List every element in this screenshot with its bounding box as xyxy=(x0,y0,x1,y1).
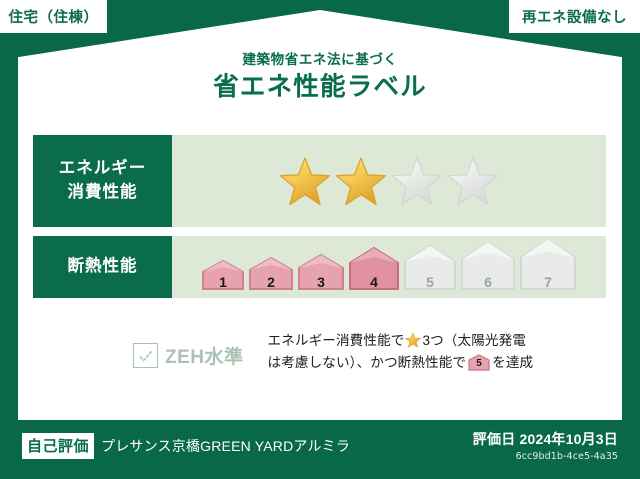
zeh-check-icon xyxy=(138,348,154,364)
self-evaluation-tag: 自己評価 xyxy=(22,433,94,459)
house-filled-icon xyxy=(201,260,245,290)
footer-right-group: 評価日 2024年10月3日 6cc9bd1b-4ce5-4a35 xyxy=(473,429,618,462)
page-title: 省エネ性能ラベル xyxy=(0,72,640,104)
insulation-performance-label-line1: 断熱性能 xyxy=(68,255,138,279)
insulation-grade-house: 6 xyxy=(460,241,516,295)
zeh-description: エネルギー消費性能で3つ（太陽光発電 は考慮しない）、かつ断熱性能で5を達成 xyxy=(268,330,534,374)
label-footer: 自己評価 プレサンス京橋GREEN YARDアルミラ 評価日 2024年10月3… xyxy=(0,420,640,479)
evaluation-id: 6cc9bd1b-4ce5-4a35 xyxy=(473,451,618,462)
label-heading: 建築物省エネ法に基づく 省エネ性能ラベル xyxy=(0,52,640,104)
house-achieved-icon xyxy=(348,247,400,290)
energy-performance-label-line1: エネルギー xyxy=(59,157,147,181)
insulation-grade-house-achieved: 4 xyxy=(348,247,400,295)
inline-star-icon xyxy=(405,332,421,348)
zeh-desc-part2: は考慮しない）、かつ断熱性能で xyxy=(268,355,467,370)
zeh-desc-star-count: 3つ（太陽光発電 xyxy=(422,333,526,348)
zeh-desc-part3: を達成 xyxy=(492,355,533,370)
energy-performance-label-line2: 消費性能 xyxy=(68,181,138,205)
renewable-energy-tag-label: 再エネ設備なし xyxy=(522,6,627,27)
insulation-performance-label: 断熱性能 xyxy=(33,236,172,298)
zeh-desc-part1: エネルギー消費性能で xyxy=(268,333,405,348)
evaluation-date: 評価日 2024年10月3日 xyxy=(473,429,618,449)
house-empty-icon xyxy=(460,241,516,290)
property-name: プレサンス京橋GREEN YARDアルミラ xyxy=(101,436,350,456)
star-empty-icon xyxy=(391,155,443,207)
star-empty-icon xyxy=(447,155,499,207)
insulation-performance-value: 1 2 xyxy=(172,236,606,298)
insulation-grade-scale: 1 2 xyxy=(201,239,577,295)
zeh-badge-label: ZEH水準 xyxy=(165,342,244,369)
zeh-standard-row: ZEH水準 エネルギー消費性能で3つ（太陽光発電 は考慮しない）、かつ断熱性能で… xyxy=(33,330,606,374)
zeh-checkbox xyxy=(133,343,158,368)
house-empty-icon xyxy=(519,238,577,290)
house-empty-icon xyxy=(403,245,457,290)
star-filled-icon xyxy=(335,155,387,207)
insulation-grade-house: 5 xyxy=(403,245,457,295)
performance-rows: エネルギー 消費性能 xyxy=(33,135,606,298)
renewable-energy-tag: 再エネ設備なし xyxy=(509,0,640,33)
insulation-grade-house: 2 xyxy=(248,257,294,295)
house-filled-icon xyxy=(248,257,294,290)
insulation-grade-house: 7 xyxy=(519,238,577,295)
star-filled-icon xyxy=(279,155,331,207)
inline-house-badge: 5 xyxy=(468,354,490,371)
energy-label-root: 住宅（住棟） 再エネ設備なし 建築物省エネ法に基づく 省エネ性能ラベル エネルギ… xyxy=(0,0,640,479)
inline-house-grade: 5 xyxy=(468,354,490,371)
footer-left-group: 自己評価 プレサンス京橋GREEN YARDアルミラ xyxy=(22,433,350,459)
zeh-badge: ZEH水準 xyxy=(133,342,244,369)
heading-subtitle: 建築物省エネ法に基づく xyxy=(0,52,640,68)
insulation-grade-house: 3 xyxy=(297,254,345,295)
insulation-performance-row: 断熱性能 1 xyxy=(33,236,606,298)
energy-performance-value xyxy=(172,135,606,227)
building-type-tag-label: 住宅（住棟） xyxy=(9,6,99,27)
building-type-tag: 住宅（住棟） xyxy=(0,0,107,33)
insulation-grade-house: 1 xyxy=(201,260,245,295)
energy-performance-row: エネルギー 消費性能 xyxy=(33,135,606,227)
star-rating xyxy=(279,155,499,207)
house-filled-icon xyxy=(297,254,345,290)
energy-performance-label: エネルギー 消費性能 xyxy=(33,135,172,227)
